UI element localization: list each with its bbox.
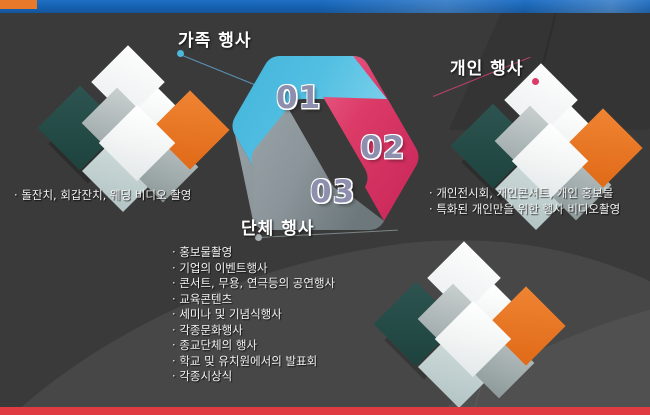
bullet-list-family: 돌잔치, 회갑잔치, 웨딩 비디오 촬영 bbox=[14, 188, 191, 204]
connector-dot-family bbox=[177, 50, 184, 57]
list-item: 종교단체의 행사 bbox=[172, 338, 335, 354]
section-label-personal: 개인 행사 bbox=[450, 54, 523, 79]
bottom-accent-bar bbox=[0, 407, 650, 415]
list-item: 세미나 및 기념식행사 bbox=[172, 307, 335, 323]
diamond-cluster-bottom bbox=[378, 238, 568, 398]
list-item: 학교 및 유치원에서의 발표회 bbox=[172, 354, 335, 370]
diamond-cluster-left bbox=[42, 42, 232, 202]
connector-dot-personal bbox=[532, 78, 539, 85]
list-item: 콘서트, 무용, 연극등의 공연행사 bbox=[172, 276, 335, 292]
list-item: 각종문화행사 bbox=[172, 323, 335, 339]
list-item: 기업의 이벤트행사 bbox=[172, 261, 335, 277]
top-bar-orange-accent bbox=[0, 0, 37, 9]
list-item: 개인전시회, 개인콘서트, 개인 홍보물 bbox=[429, 186, 620, 202]
hexagon-infographic: 01 02 03 bbox=[232, 44, 432, 234]
hexagon-number-03: 03 bbox=[310, 174, 355, 210]
list-item: 교육콘텐츠 bbox=[172, 292, 335, 308]
top-accent-bar bbox=[0, 0, 650, 13]
top-bar-sheen bbox=[320, 0, 650, 13]
list-item: 각종시상식 bbox=[172, 369, 335, 385]
slide-canvas: 01 02 03 가족 행사 개인 행사 단체 행사 돌잔치, 회갑잔치, 웨딩… bbox=[0, 0, 650, 415]
hexagon-number-01: 01 bbox=[276, 80, 321, 116]
list-item: 돌잔치, 회갑잔치, 웨딩 비디오 촬영 bbox=[14, 188, 191, 204]
hexagon-number-02: 02 bbox=[360, 130, 405, 166]
list-item: 홍보물촬영 bbox=[172, 245, 335, 261]
bullet-list-personal: 개인전시회, 개인콘서트, 개인 홍보물 특화된 개인만을 위한 행사 비디오촬… bbox=[429, 186, 620, 217]
section-label-family: 가족 행사 bbox=[178, 26, 251, 51]
section-label-group: 단체 행사 bbox=[241, 214, 314, 239]
list-item: 특화된 개인만을 위한 행사 비디오촬영 bbox=[429, 202, 620, 218]
bullet-list-group: 홍보물촬영 기업의 이벤트행사 콘서트, 무용, 연극등의 공연행사 교육콘텐츠… bbox=[172, 245, 335, 385]
